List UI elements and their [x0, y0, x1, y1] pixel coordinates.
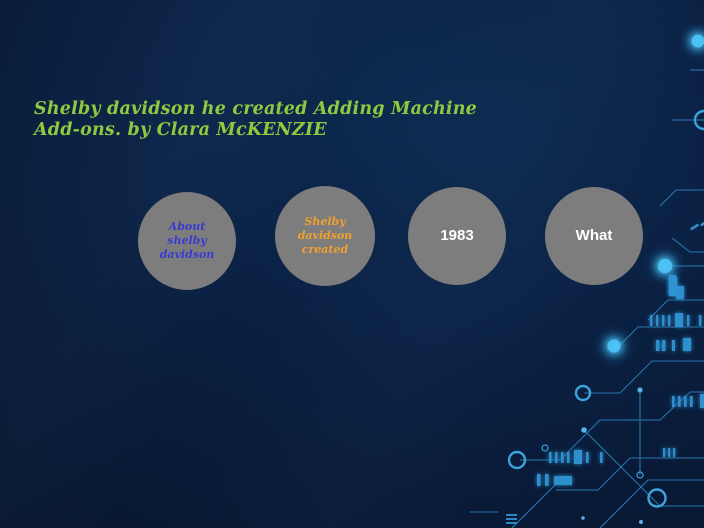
slide-title-line-1: Shelby davidson he created Adding Machin… — [34, 99, 454, 120]
topic-node-label: 1983 — [430, 227, 483, 246]
presentation-canvas[interactable]: Shelby davidson he created Adding Machin… — [0, 0, 704, 528]
slide-title: Shelby davidson he created Adding Machin… — [34, 99, 454, 141]
topic-node-label: About shelby davidson — [138, 220, 236, 261]
topic-node-shelby-davidson-created[interactable]: Shelby davidson created — [275, 186, 375, 286]
slide-title-line-2: Add-ons. by Clara McKENZIE — [34, 120, 454, 141]
topic-node-year-1983[interactable]: 1983 — [408, 187, 506, 285]
topic-node-about-shelby-davidson[interactable]: About shelby davidson — [138, 192, 236, 290]
topic-node-label: What — [566, 227, 623, 246]
topic-node-what[interactable]: What — [545, 187, 643, 285]
topic-node-label: Shelby davidson created — [275, 215, 375, 256]
